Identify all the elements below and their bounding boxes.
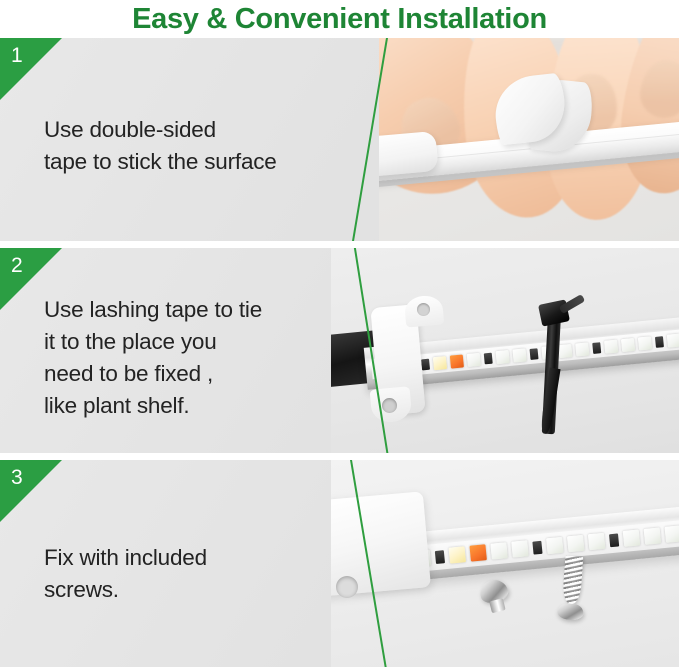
led-cool bbox=[644, 527, 661, 544]
panel-divider-gap bbox=[0, 241, 679, 248]
led-cool bbox=[490, 542, 507, 559]
led-res bbox=[655, 336, 664, 348]
screw-shank bbox=[489, 598, 505, 613]
triangle-shape bbox=[0, 248, 62, 310]
step-3-photo bbox=[331, 460, 679, 667]
step-number-badge-2: 2 bbox=[0, 248, 62, 310]
led-orange bbox=[469, 544, 486, 561]
led-res bbox=[435, 550, 445, 564]
zip-tie-band bbox=[542, 310, 561, 435]
triangle-shape bbox=[0, 460, 62, 522]
led-res bbox=[421, 358, 430, 370]
led-cool bbox=[588, 533, 605, 550]
step-3-caption: Fix with included screws. bbox=[44, 542, 207, 606]
step-number: 1 bbox=[11, 45, 23, 66]
step-number: 2 bbox=[11, 255, 23, 276]
led-cool bbox=[511, 540, 528, 557]
led-cool bbox=[546, 537, 563, 554]
step-panel-1: 1 Use double-sided tape to stick the sur… bbox=[0, 38, 679, 241]
title-bar: Easy & Convenient Installation bbox=[0, 0, 679, 38]
led-cool bbox=[604, 339, 618, 353]
led-cool bbox=[558, 344, 572, 358]
step-1-photo bbox=[379, 38, 679, 241]
screw-threaded-shank bbox=[562, 555, 583, 604]
photo-hand-applying-tape bbox=[379, 38, 679, 241]
led-cool bbox=[667, 333, 679, 347]
led-warm bbox=[449, 546, 466, 563]
self-tapping-screw bbox=[557, 559, 587, 621]
led-cool bbox=[621, 337, 635, 351]
step-number-badge-1: 1 bbox=[0, 38, 62, 100]
step-number-badge-3: 3 bbox=[0, 460, 62, 522]
led-cool bbox=[575, 342, 589, 356]
led-cool bbox=[665, 525, 679, 542]
zip-tie-tail bbox=[559, 294, 586, 314]
step-1-caption: Use double-sided tape to stick the surfa… bbox=[44, 114, 277, 178]
led-res bbox=[529, 348, 538, 360]
page-title: Easy & Convenient Installation bbox=[132, 5, 547, 34]
photo-screws bbox=[331, 460, 679, 667]
led-res bbox=[592, 342, 601, 354]
led-cool bbox=[512, 348, 526, 362]
led-cool bbox=[623, 529, 640, 546]
bracket-screw-hole bbox=[417, 303, 430, 316]
bracket-screw-hole bbox=[382, 398, 397, 413]
panel-divider-gap bbox=[0, 453, 679, 460]
led-orange bbox=[450, 354, 464, 368]
led-res bbox=[609, 533, 619, 547]
step-number: 3 bbox=[11, 467, 23, 488]
step-panel-3: 3 Fix with included screws. bbox=[0, 460, 679, 667]
light-bar-end-cap bbox=[379, 131, 439, 177]
led-res bbox=[532, 540, 542, 554]
led-cool bbox=[496, 350, 510, 364]
machine-screw bbox=[478, 577, 513, 615]
led-warm bbox=[433, 356, 447, 370]
screw-head bbox=[557, 603, 584, 621]
step-2-caption: Use lashing tape to tie it to the place … bbox=[44, 294, 262, 422]
led-cool bbox=[567, 535, 584, 552]
installation-infographic: Easy & Convenient Installation bbox=[0, 0, 679, 669]
step-panel-2: 2 Use lashing tape to tie it to the plac… bbox=[0, 248, 679, 453]
led-cool bbox=[467, 352, 481, 366]
end-cap-screw-hole bbox=[336, 576, 358, 598]
triangle-shape bbox=[0, 38, 62, 100]
led-cool bbox=[638, 336, 652, 350]
led-res bbox=[484, 352, 493, 364]
